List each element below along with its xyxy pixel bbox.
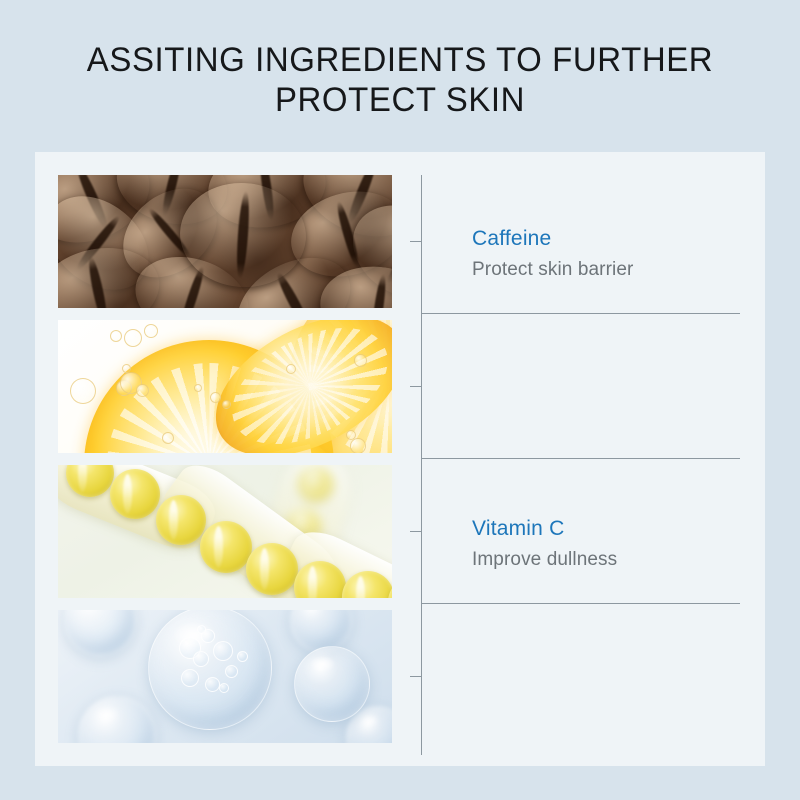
ingredients-panel: Caffeine Protect skin barrier	[35, 152, 765, 766]
ingredient-image-coffee-beans	[58, 175, 392, 308]
water-bubbles-illustration	[58, 610, 392, 743]
ingredient-row: Niacinamide Even skin tone	[35, 610, 765, 755]
softgel-capsules-illustration	[58, 465, 392, 598]
ingredient-row: Caffeine Protect skin barrier	[35, 175, 765, 320]
ingredient-text-block: Caffeine Protect skin barrier	[472, 225, 762, 283]
page-title: Assiting Ingredients To Further Protect …	[12, 40, 788, 120]
ingredient-row: Vitamin E Reduce skin dryness	[35, 465, 765, 610]
lemon-slices-illustration	[58, 320, 392, 453]
ingredient-row: Vitamin C Improve dullness	[35, 320, 765, 465]
coffee-beans-illustration	[58, 175, 392, 308]
ingredient-image-lemon-slices	[58, 320, 392, 453]
ingredient-image-water-bubbles	[58, 610, 392, 743]
ingredient-image-vitamin-e-capsules	[58, 465, 392, 598]
ingredient-benefit: Protect skin barrier	[472, 256, 762, 283]
ingredient-name: Caffeine	[472, 225, 762, 253]
